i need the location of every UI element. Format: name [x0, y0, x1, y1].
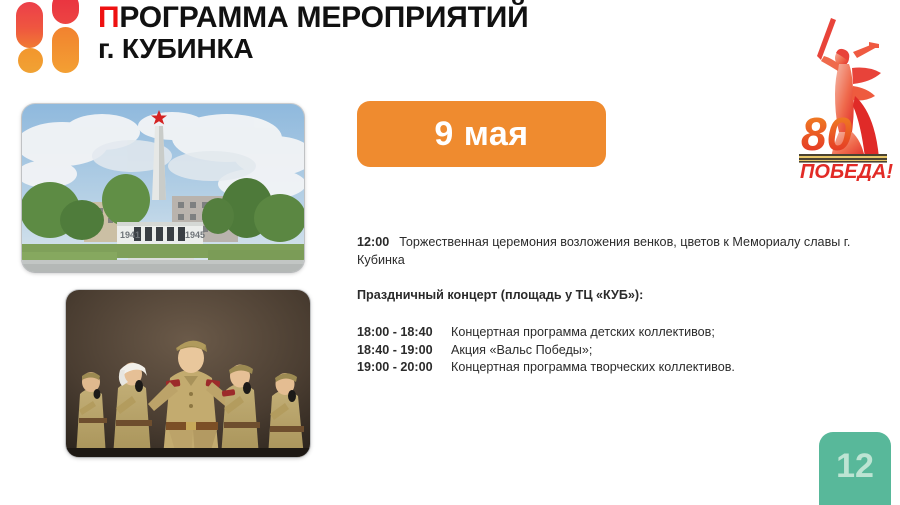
schedule-description: Акция «Вальс Победы»; [451, 343, 592, 357]
svg-text:1945: 1945 [185, 230, 205, 240]
schedule-time: 19:00 - 20:00 [357, 359, 451, 377]
page-title: ПРОГРАММА МЕРОПРИЯТИЙ г. КУБИНКА [98, 2, 738, 65]
date-badge-label: 9 мая [434, 115, 528, 154]
schedule-row: 18:40 - 19:00Акция «Вальс Победы»; [357, 342, 889, 360]
logo-circle-bottom-left [18, 48, 43, 73]
logo-capsule-top-right [52, 0, 79, 24]
schedule-time: 18:00 - 18:40 [357, 324, 451, 342]
svg-text:80: 80 [801, 108, 853, 160]
schedule-time: 18:40 - 19:00 [357, 342, 451, 360]
logo-capsule-top-left [16, 2, 43, 48]
date-badge: 9 мая [357, 101, 606, 167]
brand-logo-icon [14, 2, 86, 72]
page-title-line-1: ПРОГРАММА МЕРОПРИЯТИЙ [98, 2, 738, 34]
schedule-row: 18:00 - 18:40Концертная программа детски… [357, 324, 889, 342]
victory-80-emblem-icon: 80 ПОБЕДА! [795, 6, 895, 181]
schedule-description: Концертная программа творческих коллекти… [451, 360, 735, 374]
title-accent-letter: П [98, 1, 119, 34]
page-number: 12 [836, 449, 874, 483]
ceremony-entry: 12:00Торжественная церемония возложения … [357, 234, 889, 270]
presentation-slide: ПРОГРАММА МЕРОПРИЯТИЙ г. КУБИНКА [0, 0, 900, 505]
program-text-block: 12:00Торжественная церемония возложения … [357, 234, 889, 377]
svg-text:1941: 1941 [120, 230, 140, 240]
logo-capsule-bottom-right [52, 27, 79, 73]
concert-photo [66, 290, 310, 457]
page-subtitle: г. КУБИНКА [98, 34, 738, 64]
schedule-description: Концертная программа детских коллективов… [451, 325, 715, 339]
concert-heading: Праздничный концерт (площадь у ТЦ «КУБ»)… [357, 287, 889, 305]
ceremony-time: 12:00 [357, 235, 389, 249]
schedule-row: 19:00 - 20:00Концертная программа творче… [357, 359, 889, 377]
title-rest: РОГРАММА МЕРОПРИЯТИЙ [119, 1, 528, 34]
ceremony-description: Торжественная церемония возложения венко… [357, 235, 850, 267]
page-number-badge: 12 [819, 432, 891, 505]
memorial-photo: 1941 1945 [22, 104, 304, 272]
svg-text:ПОБЕДА!: ПОБЕДА! [800, 161, 893, 181]
